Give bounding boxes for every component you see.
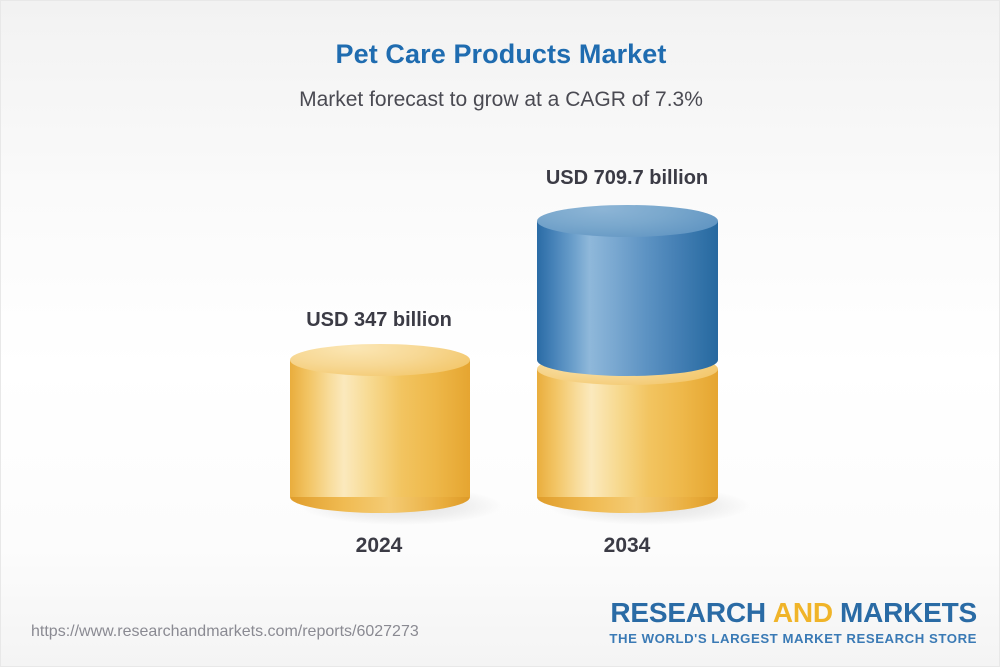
brand-word-research: RESEARCH xyxy=(610,597,766,628)
bar-segment-growth-2034-top xyxy=(537,205,718,237)
bar-segment-base-2024 xyxy=(290,344,470,513)
bar-segment-base-2034 xyxy=(537,353,718,513)
bar-segment-base-2024-body xyxy=(290,360,470,497)
category-label-2034: 2034 xyxy=(527,534,727,558)
category-label-2024: 2024 xyxy=(279,534,479,558)
chart-subtitle: Market forecast to grow at a CAGR of 7.3… xyxy=(1,88,1000,112)
value-label-2024: USD 347 billion xyxy=(279,309,479,332)
brand-logo: RESEARCHANDMARKETS THE WORLD'S LARGEST M… xyxy=(609,599,977,645)
brand-wordmark: RESEARCHANDMARKETS xyxy=(609,599,977,627)
value-label-2034: USD 709.7 billion xyxy=(527,167,727,190)
brand-word-markets: MARKETS xyxy=(840,597,977,628)
bar-segment-base-2034-body xyxy=(537,369,718,497)
brand-tagline: THE WORLD'S LARGEST MARKET RESEARCH STOR… xyxy=(609,632,977,645)
source-url[interactable]: https://www.researchandmarkets.com/repor… xyxy=(31,623,419,641)
chart-title: Pet Care Products Market xyxy=(1,39,1000,70)
brand-word-and: AND xyxy=(773,597,833,628)
chart-canvas: Pet Care Products Market Market forecast… xyxy=(0,0,1000,667)
bar-segment-base-2024-top xyxy=(290,344,470,376)
bar-segment-growth-2034-body xyxy=(537,221,718,360)
bar-segment-growth-2034 xyxy=(537,205,718,376)
